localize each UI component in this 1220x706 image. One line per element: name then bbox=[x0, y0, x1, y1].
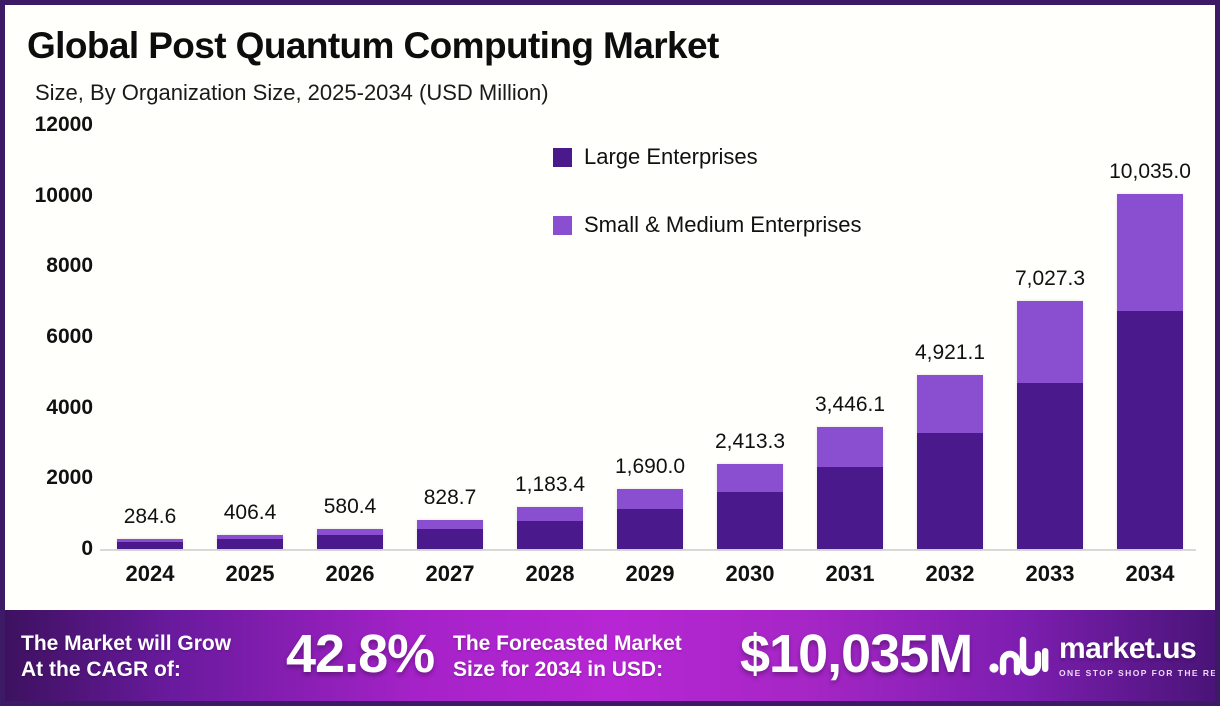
y-axis-tick: 6000 bbox=[46, 325, 93, 349]
bar-segment-large-enterprises[interactable] bbox=[1017, 383, 1083, 549]
bar-segment-sme[interactable] bbox=[317, 529, 383, 536]
bar-segment-large-enterprises[interactable] bbox=[117, 542, 183, 549]
bar-segment-large-enterprises[interactable] bbox=[917, 433, 983, 549]
bar-segment-large-enterprises[interactable] bbox=[1117, 311, 1183, 549]
y-axis-tick: 8000 bbox=[46, 254, 93, 278]
x-axis-tick-2030: 2030 bbox=[700, 561, 800, 597]
stacked-bar[interactable] bbox=[217, 535, 283, 549]
bar-slot-2027: 828.7 bbox=[400, 125, 500, 549]
summary-banner: The Market will Grow At the CAGR of: 42.… bbox=[5, 610, 1215, 701]
cagr-label-line1: The Market will Grow bbox=[21, 631, 231, 657]
bar-slot-2024: 284.6 bbox=[100, 125, 200, 549]
cagr-value: 42.8% bbox=[286, 623, 434, 685]
cagr-label: The Market will Grow At the CAGR of: bbox=[21, 631, 231, 682]
x-axis-tick-2028: 2028 bbox=[500, 561, 600, 597]
bar-segment-sme[interactable] bbox=[517, 507, 583, 521]
stacked-bar[interactable] bbox=[1017, 301, 1083, 549]
market-us-logo-icon bbox=[989, 634, 1051, 678]
y-axis-tick: 0 bbox=[81, 537, 93, 561]
bar-group: 284.6406.4580.4828.71,183.41,690.02,413.… bbox=[100, 125, 1200, 549]
bar-slot-2025: 406.4 bbox=[200, 125, 300, 549]
stacked-bar[interactable] bbox=[117, 539, 183, 549]
bar-value-label: 7,027.3 bbox=[1015, 267, 1085, 291]
cagr-label-line2: At the CAGR of: bbox=[21, 657, 231, 683]
x-axis-tick-2033: 2033 bbox=[1000, 561, 1100, 597]
stacked-bar[interactable] bbox=[417, 520, 483, 549]
bar-segment-sme[interactable] bbox=[417, 520, 483, 530]
bar-segment-sme[interactable] bbox=[817, 427, 883, 467]
stacked-bar[interactable] bbox=[317, 529, 383, 550]
bar-value-label: 284.6 bbox=[124, 505, 177, 529]
plot-area: 284.6406.4580.4828.71,183.41,690.02,413.… bbox=[100, 125, 1200, 549]
bar-segment-large-enterprises[interactable] bbox=[317, 535, 383, 549]
x-axis-tick-2032: 2032 bbox=[900, 561, 1000, 597]
page-title: Global Post Quantum Computing Market bbox=[27, 25, 719, 67]
forecast-value: $10,035M bbox=[740, 623, 972, 685]
market-us-logo[interactable]: market.us ONE STOP SHOP FOR THE REPORTS bbox=[989, 634, 1215, 678]
stacked-bar[interactable] bbox=[617, 489, 683, 549]
y-axis-tick: 2000 bbox=[46, 466, 93, 490]
x-axis-tick-2024: 2024 bbox=[100, 561, 200, 597]
bar-segment-large-enterprises[interactable] bbox=[417, 529, 483, 549]
bar-segment-sme[interactable] bbox=[717, 464, 783, 492]
infographic-frame: Global Post Quantum Computing Market Siz… bbox=[0, 0, 1220, 706]
bar-slot-2034: 10,035.0 bbox=[1100, 125, 1200, 549]
bar-segment-sme[interactable] bbox=[1117, 194, 1183, 311]
y-axis: 120001000080006000400020000 bbox=[5, 125, 93, 549]
y-axis-tick: 12000 bbox=[35, 113, 93, 137]
bar-segment-sme[interactable] bbox=[1017, 301, 1083, 383]
bar-slot-2032: 4,921.1 bbox=[900, 125, 1000, 549]
bar-slot-2026: 580.4 bbox=[300, 125, 400, 549]
bar-slot-2028: 1,183.4 bbox=[500, 125, 600, 549]
bar-value-label: 4,921.1 bbox=[915, 341, 985, 365]
forecast-label: The Forecasted Market Size for 2034 in U… bbox=[453, 631, 682, 682]
bar-value-label: 1,690.0 bbox=[615, 455, 685, 479]
stacked-bar[interactable] bbox=[817, 427, 883, 549]
x-axis-tick-2034: 2034 bbox=[1100, 561, 1200, 597]
bar-value-label: 3,446.1 bbox=[815, 393, 885, 417]
stacked-bar[interactable] bbox=[517, 507, 583, 549]
forecast-label-line1: The Forecasted Market bbox=[453, 631, 682, 657]
x-axis-tick-2029: 2029 bbox=[600, 561, 700, 597]
x-axis-tick-2027: 2027 bbox=[400, 561, 500, 597]
bar-value-label: 828.7 bbox=[424, 486, 477, 510]
x-axis-baseline bbox=[100, 549, 1196, 551]
bar-segment-large-enterprises[interactable] bbox=[817, 467, 883, 549]
bar-segment-large-enterprises[interactable] bbox=[617, 509, 683, 549]
bar-value-label: 580.4 bbox=[324, 495, 377, 519]
bar-segment-sme[interactable] bbox=[917, 375, 983, 432]
bar-segment-large-enterprises[interactable] bbox=[217, 539, 283, 549]
stacked-bar[interactable] bbox=[917, 375, 983, 549]
bar-value-label: 406.4 bbox=[224, 501, 277, 525]
forecast-label-line2: Size for 2034 in USD: bbox=[453, 657, 682, 683]
stacked-bar[interactable] bbox=[1117, 194, 1183, 549]
bar-slot-2029: 1,690.0 bbox=[600, 125, 700, 549]
bar-slot-2033: 7,027.3 bbox=[1000, 125, 1100, 549]
x-axis-tick-2025: 2025 bbox=[200, 561, 300, 597]
x-axis: 2024202520262027202820292030203120322033… bbox=[100, 561, 1200, 597]
bar-value-label: 10,035.0 bbox=[1109, 160, 1191, 184]
bar-slot-2031: 3,446.1 bbox=[800, 125, 900, 549]
bar-value-label: 1,183.4 bbox=[515, 473, 585, 497]
bar-segment-sme[interactable] bbox=[617, 489, 683, 509]
logo-tagline: ONE STOP SHOP FOR THE REPORTS bbox=[1059, 668, 1215, 678]
logo-wordmark: market.us bbox=[1059, 634, 1215, 664]
bar-slot-2030: 2,413.3 bbox=[700, 125, 800, 549]
x-axis-tick-2026: 2026 bbox=[300, 561, 400, 597]
bar-value-label: 2,413.3 bbox=[715, 430, 785, 454]
bar-segment-large-enterprises[interactable] bbox=[517, 521, 583, 549]
y-axis-tick: 4000 bbox=[46, 396, 93, 420]
bar-segment-large-enterprises[interactable] bbox=[717, 492, 783, 549]
y-axis-tick: 10000 bbox=[35, 184, 93, 208]
stacked-bar[interactable] bbox=[717, 464, 783, 549]
chart-subtitle: Size, By Organization Size, 2025-2034 (U… bbox=[35, 80, 549, 106]
x-axis-tick-2031: 2031 bbox=[800, 561, 900, 597]
